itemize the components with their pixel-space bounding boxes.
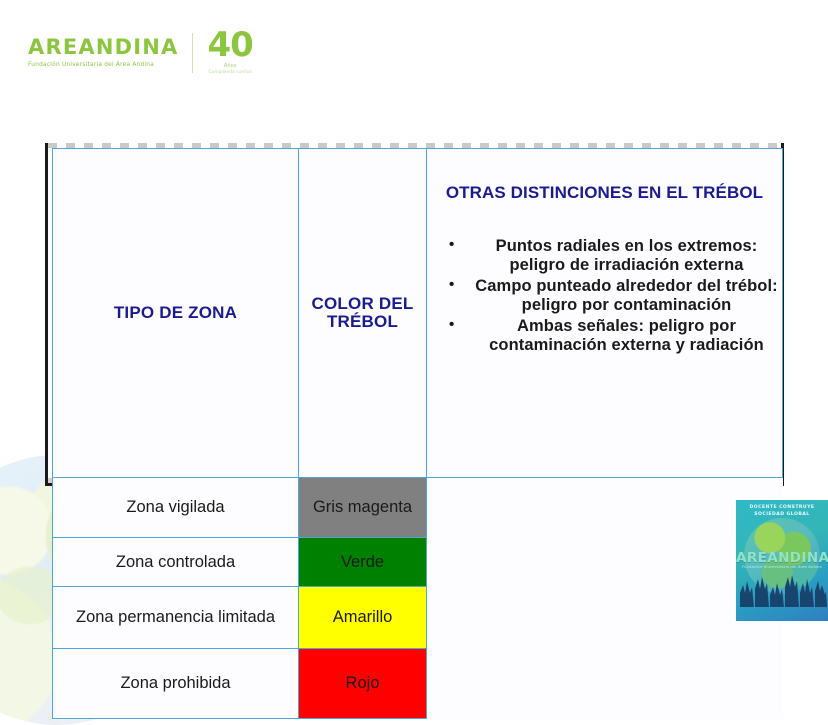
list-item: Ambas señales: peligro por contaminación… — [449, 317, 778, 356]
zona-label: Zona vigilada — [53, 478, 299, 538]
anniversary-sublabel: Cumpliendo sueños — [209, 70, 252, 76]
badge-tagline: DOCENTE CONSTRUYE SOCIEDAD GLOBAL — [736, 505, 828, 519]
zona-label: Zona prohibida — [53, 649, 299, 719]
notes-cell: Puntos radiales en los extremos: peligro… — [427, 237, 782, 477]
badge-tagline-line2: SOCIEDAD GLOBAL — [736, 512, 828, 519]
header-otras-distinciones: OTRAS DISTINCIONES EN EL TRÉBOL Puntos r… — [427, 149, 783, 478]
table-row: Zona controlada Verde — [53, 538, 783, 587]
table-header-row: TIPO DE ZONA COLOR DEL TRÉBOL OTRAS DIST… — [53, 149, 783, 478]
notes-list: Puntos radiales en los extremos: peligro… — [427, 237, 782, 356]
zona-label: Zona controlada — [53, 538, 299, 587]
anniversary-number: 40 — [207, 30, 252, 61]
anniversary-mark: 40 Años Cumpliendo sueños — [207, 30, 252, 75]
list-item: Puntos radiales en los extremos: peligro… — [449, 237, 778, 276]
badge-tagline-line1: DOCENTE CONSTRUYE — [736, 505, 828, 512]
color-swatch-verde: Verde — [299, 538, 427, 587]
color-swatch-amarillo: Amarillo — [299, 587, 427, 649]
color-swatch-rojo: Rojo — [299, 649, 427, 719]
zona-label: Zona permanencia limitada — [53, 587, 299, 649]
table-row: Zona permanencia limitada Amarillo — [53, 587, 783, 649]
header-tipo-de-zona: TIPO DE ZONA — [53, 149, 299, 478]
logo-wordmark-block: AREANDINA Fundación Universitaria del Ár… — [28, 37, 178, 69]
logo-divider — [192, 33, 193, 73]
raised-hands-crowd-icon — [736, 563, 828, 607]
color-swatch-gris-magenta: Gris magenta — [299, 478, 427, 538]
table-row: Zona prohibida Rojo — [53, 649, 783, 719]
table-frame: TIPO DE ZONA COLOR DEL TRÉBOL OTRAS DIST… — [45, 143, 784, 486]
areandina-campaign-badge: DOCENTE CONSTRUYE SOCIEDAD GLOBAL AREAND… — [736, 500, 828, 621]
list-item: Campo punteado alrededor del trébol: pel… — [449, 277, 778, 316]
logo-tagline: Fundación Universitaria del Área Andina — [28, 63, 178, 69]
header-otras-distinciones-text: OTRAS DISTINCIONES EN EL TRÉBOL — [427, 149, 782, 237]
areandina-logo: AREANDINA Fundación Universitaria del Ár… — [28, 30, 253, 75]
header-color-del-trebol: COLOR DEL TRÉBOL — [299, 149, 427, 478]
logo-wordmark: AREANDINA — [28, 37, 178, 58]
radiation-zones-table: TIPO DE ZONA COLOR DEL TRÉBOL OTRAS DIST… — [52, 148, 783, 719]
table-row: Zona vigilada Gris magenta — [53, 478, 783, 538]
